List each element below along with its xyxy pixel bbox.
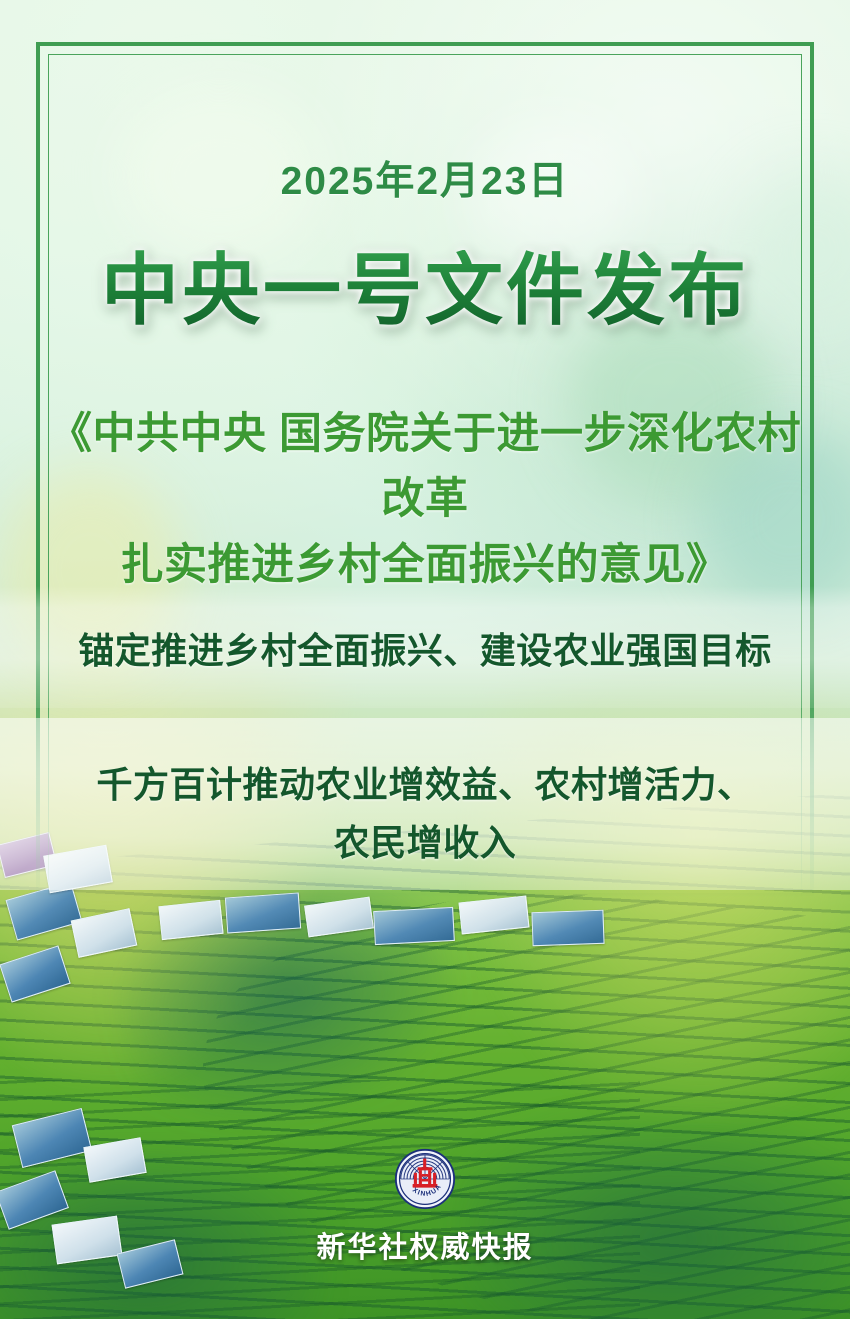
subtitle-measures-line-2: 农民增收入	[60, 814, 790, 872]
subtitle-goal: 锚定推进乡村全面振兴、建设农业强国目标	[40, 622, 810, 674]
poster-content: 2025年2月23日 中央一号文件发布 《中共中央 国务院关于进一步深化农村改革…	[0, 0, 850, 1319]
document-title-line-1: 《中共中央 国务院关于进一步深化农村改革	[40, 402, 810, 533]
footer: XINHUA 新华社权威快报	[0, 1148, 850, 1266]
poster: 2025年2月23日 中央一号文件发布 《中共中央 国务院关于进一步深化农村改革…	[0, 0, 850, 1319]
page-title: 中央一号文件发布	[0, 250, 850, 332]
document-title-line-2: 扎实推进乡村全面振兴的意见》	[40, 533, 810, 598]
footer-brand-label: 新华社权威快报	[0, 1224, 850, 1266]
publication-date: 2025年2月23日	[0, 150, 850, 206]
subtitle-measures: 千方百计推动农业增效益、农村增活力、 农民增收入	[60, 756, 790, 871]
subtitle-measures-line-1: 千方百计推动农业增效益、农村增活力、	[60, 756, 790, 814]
xinhua-news-agency-logo-icon: XINHUA	[394, 1148, 456, 1210]
document-title: 《中共中央 国务院关于进一步深化农村改革 扎实推进乡村全面振兴的意见》	[40, 402, 810, 598]
